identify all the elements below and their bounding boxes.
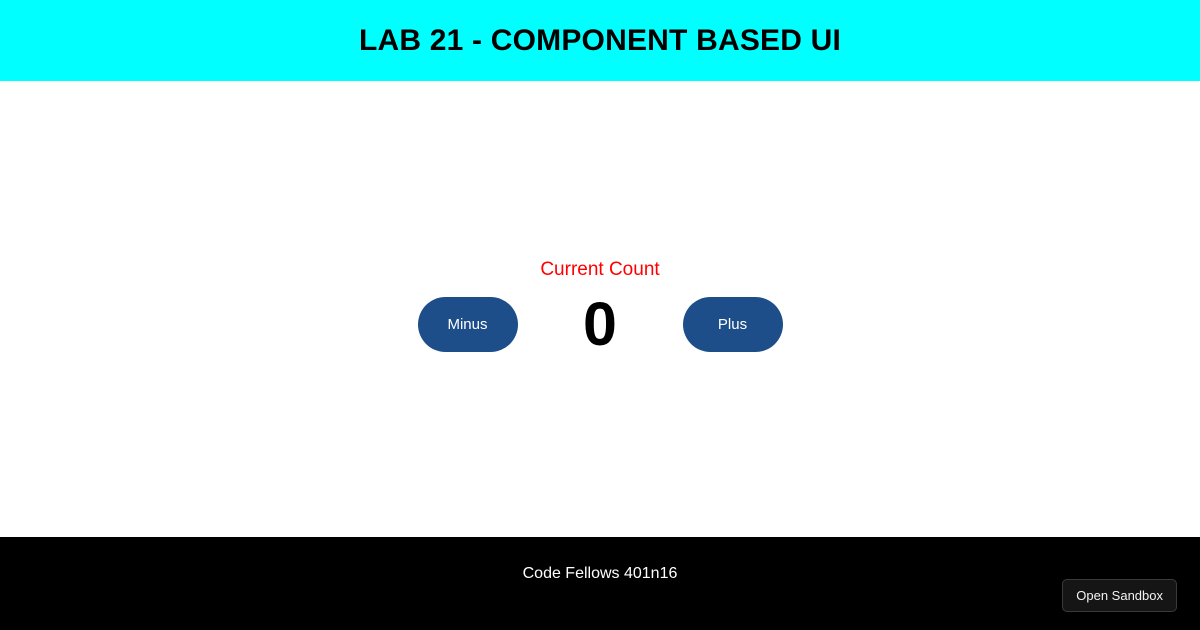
- main-content-area: Current Count Minus 0 Plus: [0, 81, 1200, 537]
- footer-credit-text: Code Fellows 401n16: [523, 564, 678, 583]
- counter-widget: Current Count Minus 0 Plus: [418, 259, 783, 355]
- page-title: LAB 21 - COMPONENT BASED UI: [359, 26, 841, 56]
- decrement-button[interactable]: Minus: [418, 297, 518, 352]
- counter-label: Current Count: [540, 259, 659, 281]
- open-sandbox-button[interactable]: Open Sandbox: [1062, 579, 1177, 612]
- counter-value: 0: [518, 294, 683, 355]
- counter-controls: Minus 0 Plus: [418, 294, 783, 355]
- app-header: LAB 21 - COMPONENT BASED UI: [0, 0, 1200, 81]
- app-footer: Code Fellows 401n16 Open Sandbox: [0, 537, 1200, 630]
- increment-button[interactable]: Plus: [683, 297, 783, 352]
